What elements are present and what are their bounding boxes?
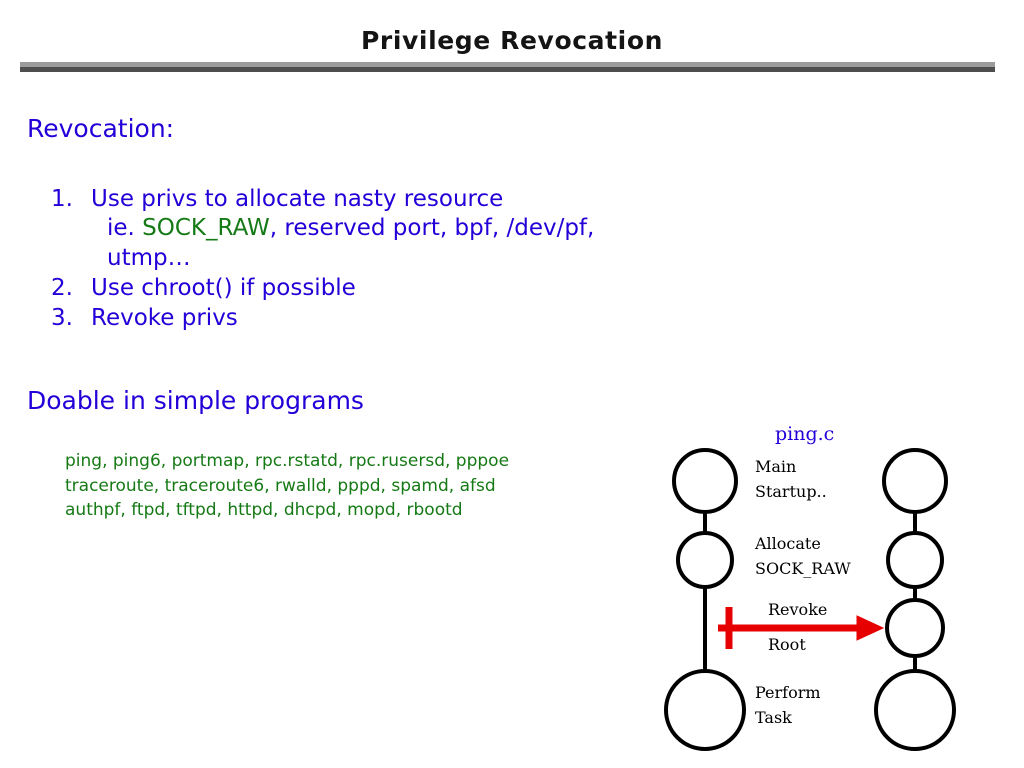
list-item: 1. Use privs to allocate nasty resource [51,185,667,215]
list-item-text: Revoke privs [91,304,667,334]
daemon-line: traceroute, traceroute6, rwalld, pppd, s… [65,474,667,499]
label-perform: Perform [755,683,821,702]
arrow-head [857,616,883,640]
list-item: 2. Use chroot() if possible [51,274,667,304]
body-content: Revocation: 1. Use privs to allocate nas… [27,115,667,523]
daemon-line: ping, ping6, portmap, rpc.rstatd, rpc.ru… [65,449,667,474]
list-item-text: Use chroot() if possible [91,274,667,304]
left-node-main-startup [674,450,736,512]
daemon-line: authpf, ftpd, tftpd, httpd, dhcpd, mopd,… [65,498,667,523]
list-item-text: Use privs to allocate nasty resource [91,185,667,215]
detail-highlight-sock-raw: SOCK_RAW [142,215,270,241]
label-sock-raw: SOCK_RAW [755,559,851,578]
list-marker: 1. [51,185,91,215]
title-divider [20,62,995,72]
label-allocate: Allocate [754,534,821,553]
label-startup: Startup.. [755,482,827,501]
page-title: Privilege Revocation [0,26,1024,55]
right-node-revoke-root [887,600,943,656]
detail-prefix: ie. [107,215,142,241]
divider-shadow [20,67,995,72]
label-main: Main [755,457,796,476]
right-node-main-startup [884,450,946,512]
left-node-allocate [678,533,732,587]
privilege-revocation-diagram: ping.c Main Startup.. Allocate SOCK_RAW … [650,415,1010,765]
right-node-perform-task [876,671,954,749]
diagram-title: ping.c [775,423,834,445]
daemon-name-list: ping, ping6, portmap, rpc.rstatd, rpc.ru… [65,449,667,523]
list-marker: 3. [51,304,91,334]
list-marker: 2. [51,274,91,304]
list-item-detail: ie. SOCK_RAW, reserved port, bpf, /dev/p… [107,214,667,274]
heading-doable: Doable in simple programs [27,386,667,415]
label-revoke: Revoke [768,600,827,619]
label-task: Task [755,708,792,727]
revocation-steps-list: 1. Use privs to allocate nasty resource … [51,185,667,334]
left-node-perform-task [666,671,744,749]
right-node-allocate [888,533,942,587]
list-item: 3. Revoke privs [51,304,667,334]
label-root: Root [768,635,806,654]
heading-revocation: Revocation: [27,115,667,143]
